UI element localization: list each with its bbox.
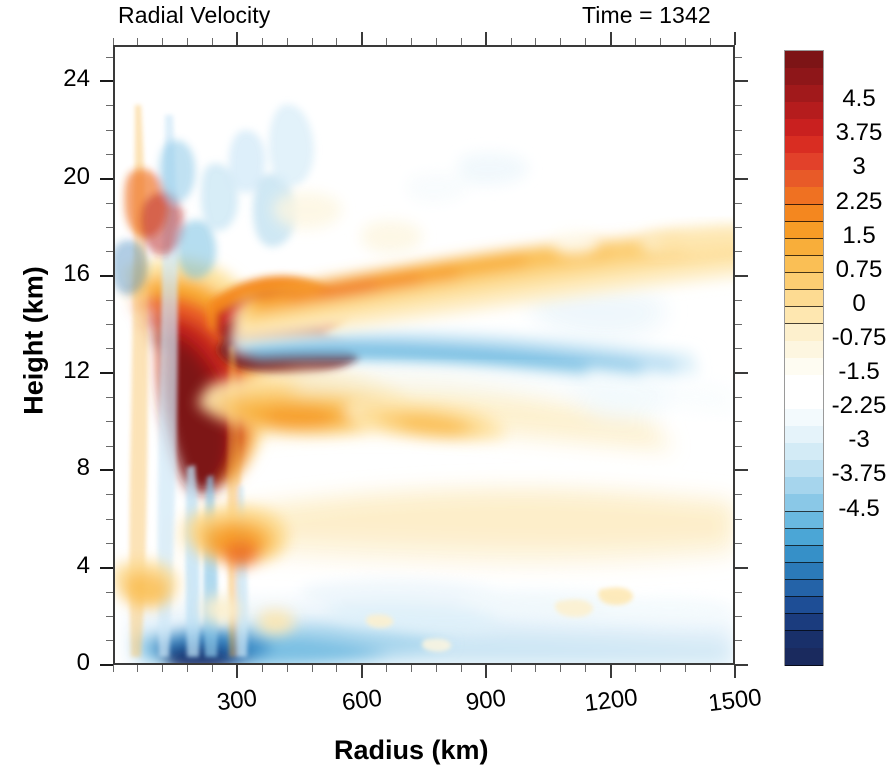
x-minor-tick: [436, 665, 437, 672]
colorbar-band: [785, 136, 823, 154]
colorbar-band: [785, 546, 823, 564]
x-minor-tick-top: [436, 38, 437, 45]
x-minor-tick: [461, 665, 462, 672]
x-minor-tick: [287, 665, 288, 672]
y-major-tick-right: [735, 372, 748, 374]
colorbar-band: [785, 51, 823, 69]
y-minor-tick: [106, 519, 113, 520]
y-minor-tick: [106, 616, 113, 617]
x-minor-tick: [386, 665, 387, 672]
plot-panel: [113, 45, 735, 665]
x-minor-tick-top: [660, 38, 661, 45]
y-minor-tick-right: [735, 592, 742, 593]
y-minor-tick-right: [735, 324, 742, 325]
colorbar-tick-label: -4.5: [826, 495, 892, 523]
x-minor-tick: [585, 665, 586, 672]
plot-title-right: Time = 1342: [582, 2, 711, 29]
x-minor-tick: [560, 665, 561, 672]
y-tick-label: 20: [18, 163, 90, 191]
y-minor-tick-right: [735, 397, 742, 398]
x-minor-tick: [187, 665, 188, 672]
x-tick-label: 300: [192, 682, 283, 721]
colorbar-band: [785, 375, 823, 393]
colorbar-band: [785, 153, 823, 171]
y-major-tick: [100, 372, 113, 374]
y-major-tick-right: [735, 664, 748, 666]
colorbar-band: [785, 256, 823, 274]
colorbar-band: [785, 460, 823, 478]
x-major-tick: [734, 665, 736, 678]
y-minor-tick: [106, 227, 113, 228]
x-minor-tick: [685, 665, 686, 672]
x-minor-tick: [162, 665, 163, 672]
y-tick-label: 24: [18, 65, 90, 93]
y-major-tick-right: [735, 80, 748, 82]
y-major-tick: [100, 469, 113, 471]
colorbar-band: [785, 477, 823, 495]
x-tick-label: 1200: [565, 682, 656, 721]
y-minor-tick-right: [735, 227, 742, 228]
x-minor-tick: [660, 665, 661, 672]
y-major-tick-right: [735, 567, 748, 569]
x-minor-tick: [137, 665, 138, 672]
y-minor-tick: [106, 397, 113, 398]
x-minor-tick-top: [461, 38, 462, 45]
colorbar-band: [785, 324, 823, 342]
y-minor-tick: [106, 203, 113, 204]
x-major-tick-top: [485, 32, 487, 45]
x-minor-tick-top: [312, 38, 313, 45]
colorbar-band: [785, 68, 823, 86]
colorbar-band: [785, 273, 823, 291]
y-major-tick-right: [735, 178, 748, 180]
colorbar-band: [785, 597, 823, 615]
x-minor-tick: [312, 665, 313, 672]
colorbar-band: [785, 580, 823, 598]
y-major-tick-right: [735, 469, 748, 471]
radial-velocity-heatmap: [113, 45, 735, 665]
x-minor-tick-top: [685, 38, 686, 45]
colorbar-tick-label: 2.25: [826, 188, 892, 216]
colorbar-band: [785, 119, 823, 137]
x-minor-tick-top: [710, 38, 711, 45]
x-minor-tick-top: [137, 38, 138, 45]
y-minor-tick-right: [735, 640, 742, 641]
x-minor-tick: [535, 665, 536, 672]
x-minor-tick: [511, 665, 512, 672]
x-axis-label: Radius (km): [334, 735, 489, 766]
y-minor-tick: [106, 251, 113, 252]
colorbar-tick-label: 1.5: [826, 222, 892, 250]
y-minor-tick-right: [735, 154, 742, 155]
colorbar-band: [785, 307, 823, 325]
x-major-tick-top: [236, 32, 238, 45]
colorbar-band: [785, 358, 823, 376]
y-minor-tick: [106, 130, 113, 131]
x-minor-tick-top: [386, 38, 387, 45]
y-minor-tick: [106, 592, 113, 593]
x-tick-label: 600: [316, 682, 407, 721]
colorbar-tick-label: -1.5: [826, 358, 892, 386]
y-tick-label: 16: [18, 260, 90, 288]
colorbar-band: [785, 512, 823, 530]
colorbar-band: [785, 102, 823, 120]
colorbar-tick-label: 3.75: [826, 119, 892, 147]
y-major-tick: [100, 178, 113, 180]
colorbar-band: [785, 563, 823, 581]
x-minor-tick: [635, 665, 636, 672]
x-minor-tick: [710, 665, 711, 672]
colorbar[interactable]: [784, 50, 824, 666]
y-minor-tick-right: [735, 203, 742, 204]
y-minor-tick: [106, 446, 113, 447]
y-minor-tick-right: [735, 421, 742, 422]
plot-title-left: Radial Velocity: [118, 2, 270, 29]
x-minor-tick-top: [162, 38, 163, 45]
colorbar-band: [785, 426, 823, 444]
x-minor-tick-top: [336, 38, 337, 45]
x-tick-label: 900: [441, 682, 532, 721]
y-minor-tick-right: [735, 57, 742, 58]
y-minor-tick: [106, 543, 113, 544]
y-minor-tick: [106, 105, 113, 106]
x-minor-tick-top: [212, 38, 213, 45]
colorbar-band: [785, 409, 823, 427]
y-minor-tick: [106, 640, 113, 641]
colorbar-tick-label: 3: [826, 153, 892, 181]
x-minor-tick-top: [511, 38, 512, 45]
x-major-tick-top: [610, 32, 612, 45]
x-minor-tick-top: [113, 38, 114, 45]
x-minor-tick-top: [262, 38, 263, 45]
x-major-tick-top: [361, 32, 363, 45]
y-tick-label: 0: [18, 649, 90, 677]
x-minor-tick: [411, 665, 412, 672]
x-minor-tick: [212, 665, 213, 672]
x-major-tick: [361, 665, 363, 678]
colorbar-band: [785, 443, 823, 461]
y-minor-tick-right: [735, 494, 742, 495]
colorbar-tick-label: 0: [826, 290, 892, 318]
y-minor-tick: [106, 154, 113, 155]
colorbar-band: [785, 85, 823, 103]
x-major-tick: [610, 665, 612, 678]
y-major-tick: [100, 664, 113, 666]
colorbar-band: [785, 187, 823, 205]
colorbar-labels: 4.53.7532.251.50.750-0.75-1.5-2.25-3-3.7…: [826, 0, 895, 774]
x-tick-label: 1500: [690, 682, 781, 721]
x-minor-tick-top: [585, 38, 586, 45]
x-major-tick: [485, 665, 487, 678]
y-minor-tick-right: [735, 543, 742, 544]
y-major-tick: [100, 567, 113, 569]
colorbar-band: [785, 341, 823, 359]
y-tick-label: 4: [18, 552, 90, 580]
colorbar-band: [785, 614, 823, 632]
colorbar-band: [785, 222, 823, 240]
y-minor-tick-right: [735, 348, 742, 349]
colorbar-tick-label: 0.75: [826, 256, 892, 284]
colorbar-band: [785, 529, 823, 547]
colorbar-band: [785, 170, 823, 188]
y-minor-tick: [106, 300, 113, 301]
x-minor-tick: [336, 665, 337, 672]
colorbar-band: [785, 205, 823, 223]
y-minor-tick-right: [735, 300, 742, 301]
y-minor-tick: [106, 348, 113, 349]
colorbar-band: [785, 239, 823, 257]
x-minor-tick-top: [560, 38, 561, 45]
y-major-tick-right: [735, 275, 748, 277]
x-minor-tick-top: [635, 38, 636, 45]
x-minor-tick: [113, 665, 114, 672]
x-major-tick: [236, 665, 238, 678]
y-minor-tick-right: [735, 446, 742, 447]
colorbar-band: [785, 494, 823, 512]
y-minor-tick: [106, 324, 113, 325]
colorbar-tick-label: -2.25: [826, 392, 892, 420]
y-minor-tick: [106, 57, 113, 58]
colorbar-band: [785, 631, 823, 649]
y-major-tick: [100, 275, 113, 277]
y-minor-tick: [106, 494, 113, 495]
y-tick-label: 12: [18, 357, 90, 385]
y-minor-tick-right: [735, 616, 742, 617]
colorbar-tick-label: -3.75: [826, 460, 892, 488]
y-minor-tick-right: [735, 519, 742, 520]
y-tick-label: 8: [18, 454, 90, 482]
x-major-tick-top: [734, 32, 736, 45]
x-minor-tick-top: [187, 38, 188, 45]
colorbar-band: [785, 392, 823, 410]
x-minor-tick-top: [287, 38, 288, 45]
colorbar-tick-label: 4.5: [826, 85, 892, 113]
colorbar-band: [785, 290, 823, 308]
y-minor-tick: [106, 421, 113, 422]
y-minor-tick-right: [735, 130, 742, 131]
y-major-tick: [100, 80, 113, 82]
y-minor-tick-right: [735, 251, 742, 252]
x-minor-tick: [262, 665, 263, 672]
x-minor-tick-top: [411, 38, 412, 45]
x-minor-tick-top: [535, 38, 536, 45]
colorbar-tick-label: -3: [826, 426, 892, 454]
colorbar-band: [785, 648, 823, 666]
colorbar-tick-label: -0.75: [826, 324, 892, 352]
y-minor-tick-right: [735, 105, 742, 106]
